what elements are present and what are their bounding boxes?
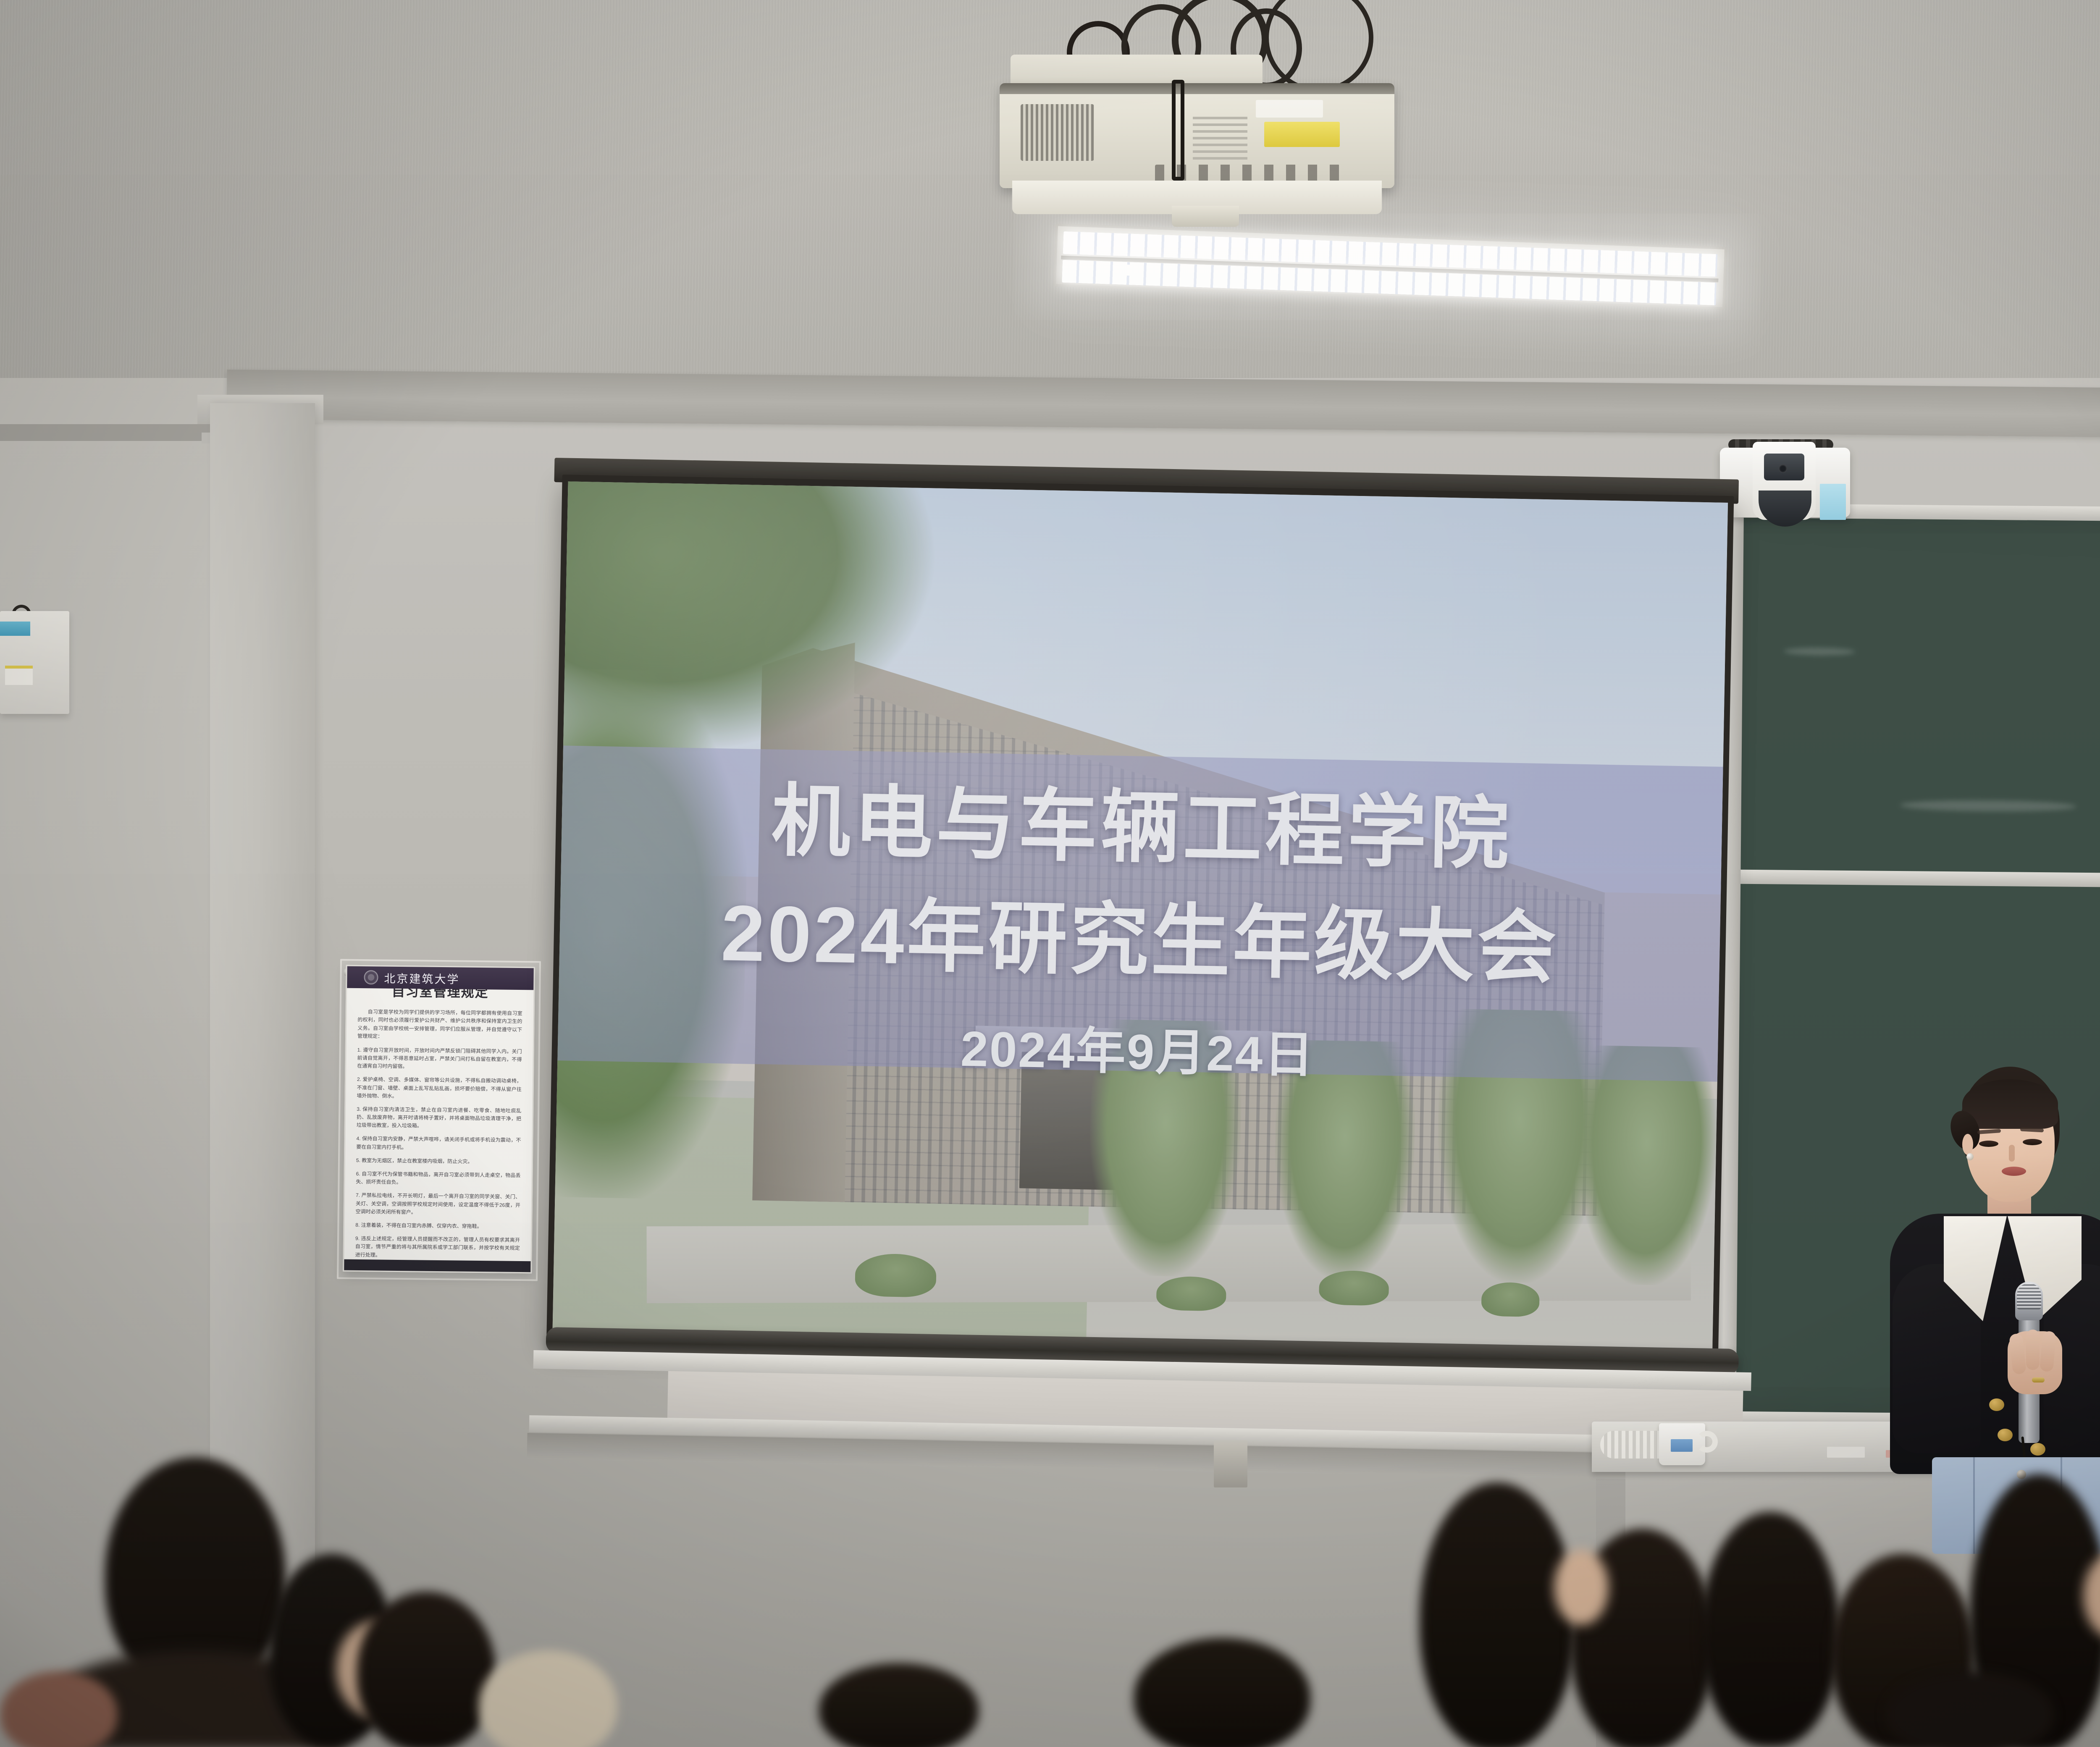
poster-rule-5: 5. 教室为无烟区，禁止在教室楼内吸烟，防止火灾。 bbox=[356, 1157, 521, 1166]
camera-asset-label bbox=[1820, 484, 1846, 520]
board-hook bbox=[1214, 1440, 1247, 1487]
slide-subtitle: 2024年研究生年级大会 bbox=[720, 885, 1559, 997]
camera-dome-lens bbox=[1759, 491, 1811, 527]
presenter-eye-left bbox=[1979, 1141, 1998, 1147]
slide-text-block: 机电与车辆工程学院 2024年研究生年级大会 2024年9月24日 bbox=[556, 745, 1723, 1150]
slide-content: 机电与车辆工程学院 2024年研究生年级大会 2024年9月24日 bbox=[552, 481, 1728, 1354]
projector-body bbox=[1000, 83, 1394, 188]
light-clip-right bbox=[1619, 284, 1627, 296]
presenter-lips bbox=[2002, 1167, 2026, 1176]
projector-lens bbox=[1172, 206, 1239, 227]
mug-logo bbox=[1671, 1439, 1693, 1452]
slide-title: 机电与车辆工程学院 bbox=[771, 773, 1513, 883]
slide-date: 2024年9月24日 bbox=[960, 1008, 1315, 1086]
presenter-jeans-seam-left bbox=[1973, 1457, 1975, 1554]
presenter-finger-2 bbox=[2026, 1330, 2040, 1370]
university-seal-icon bbox=[364, 970, 378, 984]
audience-face-2 bbox=[1554, 1550, 1609, 1625]
poster-rule-8: 8. 注意着装，不得在自习室内赤膊、仅穿内衣、穿拖鞋。 bbox=[355, 1221, 520, 1231]
projection-screen-frame: 机电与车辆工程学院 2024年研究生年级大会 2024年9月24日 bbox=[546, 475, 1734, 1361]
poster-rule-9: 9. 违反上述规定，经管理人员提醒而不改正的，管理人员有权要求其离开自习室，情节… bbox=[355, 1235, 520, 1261]
presenter-hair-top bbox=[1962, 1079, 2058, 1129]
audience-head-7 bbox=[1701, 1512, 1840, 1747]
projector-warning-sticker bbox=[1264, 122, 1340, 147]
presenter-ring bbox=[2032, 1377, 2045, 1382]
wall-box-instruction-sticker bbox=[5, 666, 33, 685]
soffit-beam-left bbox=[0, 424, 235, 441]
presenter-jacket-button-1 bbox=[1989, 1398, 2004, 1411]
projector-speaker-grille bbox=[1193, 113, 1247, 160]
study-room-rules-poster: 北京建筑大学 自习室管理规定 自习室是学校为同学们提供的学习场所，每位同学都拥有… bbox=[343, 965, 535, 1274]
poster-rule-3: 3. 保持自习室内清洁卫生，禁止在自习室内进餐、吃零食、随地吐痰乱扔、乱放废弃物… bbox=[357, 1105, 522, 1131]
camera-lens-element bbox=[1779, 464, 1787, 473]
wall-box-asset-label bbox=[0, 622, 30, 636]
ceiling-projector bbox=[995, 55, 1407, 218]
mug-handle bbox=[1696, 1431, 1718, 1453]
presenter-jacket-button-3 bbox=[2030, 1443, 2045, 1456]
presenter-ear bbox=[1962, 1134, 1973, 1155]
presenter-eye-right bbox=[2023, 1139, 2042, 1145]
projector-hanging-cable bbox=[1172, 80, 1184, 181]
projector-vent-grille bbox=[1021, 104, 1094, 161]
presenter-nose bbox=[2009, 1145, 2015, 1162]
poster-rule-6: 6. 自习室不代为保管书籍和物品，离开自习室必须带到人走桌空，物品丢失、损坏责任… bbox=[356, 1170, 520, 1188]
desk-item-1 bbox=[1827, 1447, 1865, 1458]
audience-head-3 bbox=[357, 1592, 496, 1747]
projector-info-label bbox=[1256, 100, 1323, 118]
slide-shrub-3 bbox=[1319, 1270, 1389, 1306]
projection-screen-surface: 机电与车辆工程学院 2024年研究生年级大会 2024年9月24日 bbox=[552, 481, 1728, 1354]
poster-rule-2: 2. 爱护桌椅、空调、多媒体、窗帘等公共设施，不得私自搬动调动桌椅，不准在门窗、… bbox=[357, 1075, 522, 1102]
microphone-grille bbox=[2017, 1283, 2041, 1309]
poster-intro-text: 自习室是学校为同学们提供的学习场所，每位同学都拥有使用自习室的权利，同时也必须履… bbox=[357, 1008, 522, 1042]
audience-head-5 bbox=[1420, 1482, 1575, 1747]
presenter-jacket-button-2 bbox=[1998, 1429, 2013, 1441]
poster-rule-7: 7. 严禁私拉电线，不开长明灯，最后一个离开自习室的同学关窗、关门、关灯、关空调… bbox=[356, 1191, 521, 1217]
light-clip-left bbox=[1123, 265, 1132, 276]
recording-camera bbox=[1720, 437, 1850, 529]
poster-rule-4: 4. 保持自习室内安静，严禁大声喧哗，请关闭手机或将手机设为震动，不要在自习室内… bbox=[356, 1135, 521, 1152]
projector-top-stripe bbox=[1000, 83, 1394, 94]
poster-rule-1: 1. 遵守自习室开放时间，开放时间内严禁反锁门阻碍其他同学入内。关门前请自觉离开… bbox=[357, 1046, 522, 1072]
poster-header-band: 北京建筑大学 bbox=[347, 966, 534, 990]
presenter bbox=[1869, 1067, 2100, 1508]
presenter-earring bbox=[1966, 1153, 1974, 1160]
poster-footer-band bbox=[344, 1259, 530, 1272]
classroom-photo: 北京建筑大学 自习室管理规定 自习室是学校为同学们提供的学习场所，每位同学都拥有… bbox=[0, 0, 2100, 1747]
poster-university-name: 北京建筑大学 bbox=[384, 969, 459, 986]
